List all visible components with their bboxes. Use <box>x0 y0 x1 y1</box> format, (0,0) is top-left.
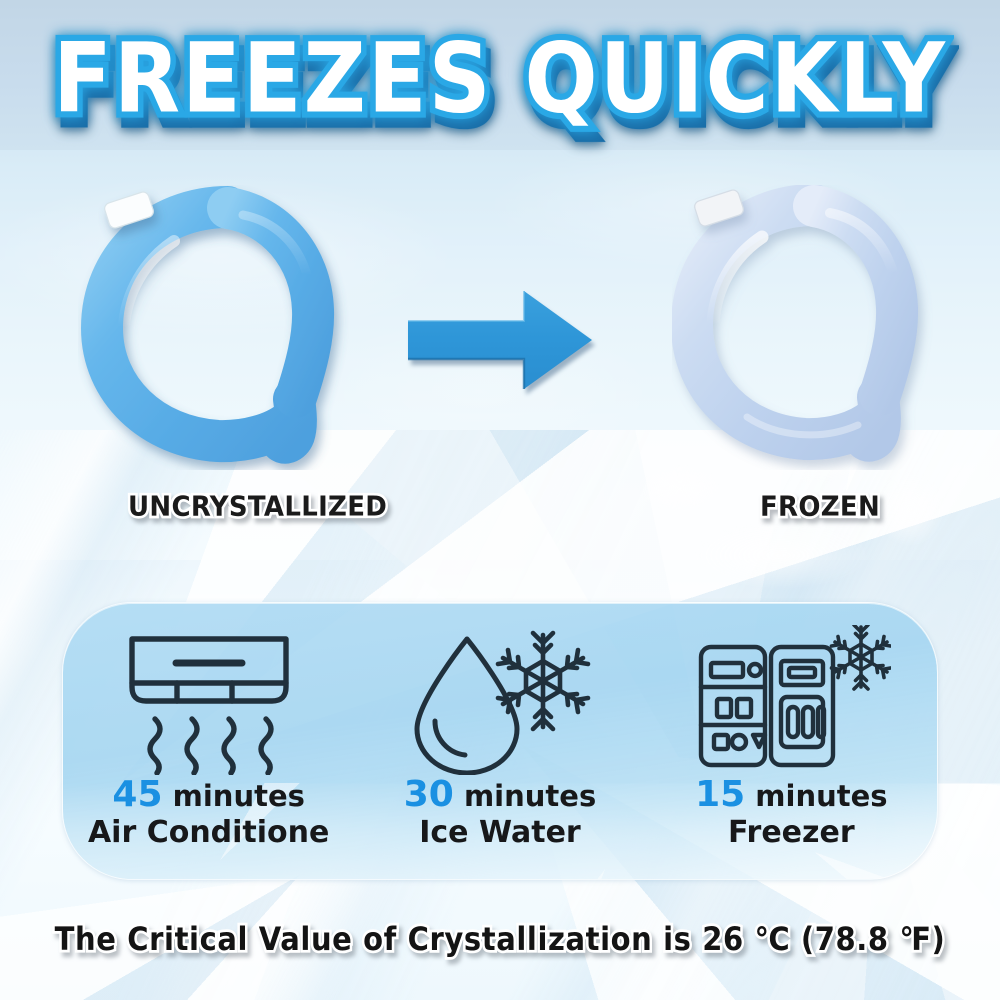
minutes-unit-air-conditioner: minutes <box>173 779 305 813</box>
ring-frozen-graphic <box>672 185 957 470</box>
method-name-freezer: Freezer <box>695 816 887 850</box>
freezer-snowflake-icon <box>691 625 891 775</box>
product-ring-frozen <box>672 185 957 470</box>
label-frozen: FROZEN <box>760 491 880 523</box>
minutes-unit-ice-water: minutes <box>464 779 596 813</box>
product-ring-uncrystallized <box>78 185 378 470</box>
minutes-unit-freezer: minutes <box>755 779 887 813</box>
crystallization-value-note: The Critical Value of Crystallization is… <box>0 920 1000 957</box>
method-name-ice-water: Ice Water <box>404 816 596 850</box>
minutes-value-air-conditioner: 45 <box>112 774 162 815</box>
label-uncrystallized: UNCRYSTALLIZED <box>128 491 387 523</box>
headline-title: FREEZES QUICKLY <box>53 23 947 135</box>
method-caption-ice-water: 30 minutes Ice Water <box>404 775 596 850</box>
air-conditioner-icon <box>120 625 298 775</box>
method-item-air-conditioner: 45 minutes Air Conditione <box>63 603 354 879</box>
minutes-value-ice-water: 30 <box>404 774 454 815</box>
water-drop-snowflake-icon <box>405 625 595 775</box>
freezing-methods-panel: 45 minutes Air Conditione <box>62 602 938 880</box>
method-item-freezer: 15 minutes Freezer <box>646 603 937 879</box>
ring-uncrystallized-graphic <box>78 185 378 470</box>
method-name-air-conditioner: Air Conditione <box>88 816 329 850</box>
infographic-stage: FREEZES QUICKLY <box>0 0 1000 1000</box>
method-caption-air-conditioner: 45 minutes Air Conditione <box>88 775 329 850</box>
headline-banner: FREEZES QUICKLY <box>0 24 1000 134</box>
transition-arrow-icon <box>404 285 596 395</box>
method-item-ice-water: 30 minutes Ice Water <box>354 603 645 879</box>
method-caption-freezer: 15 minutes Freezer <box>695 775 887 850</box>
minutes-value-freezer: 15 <box>695 774 745 815</box>
